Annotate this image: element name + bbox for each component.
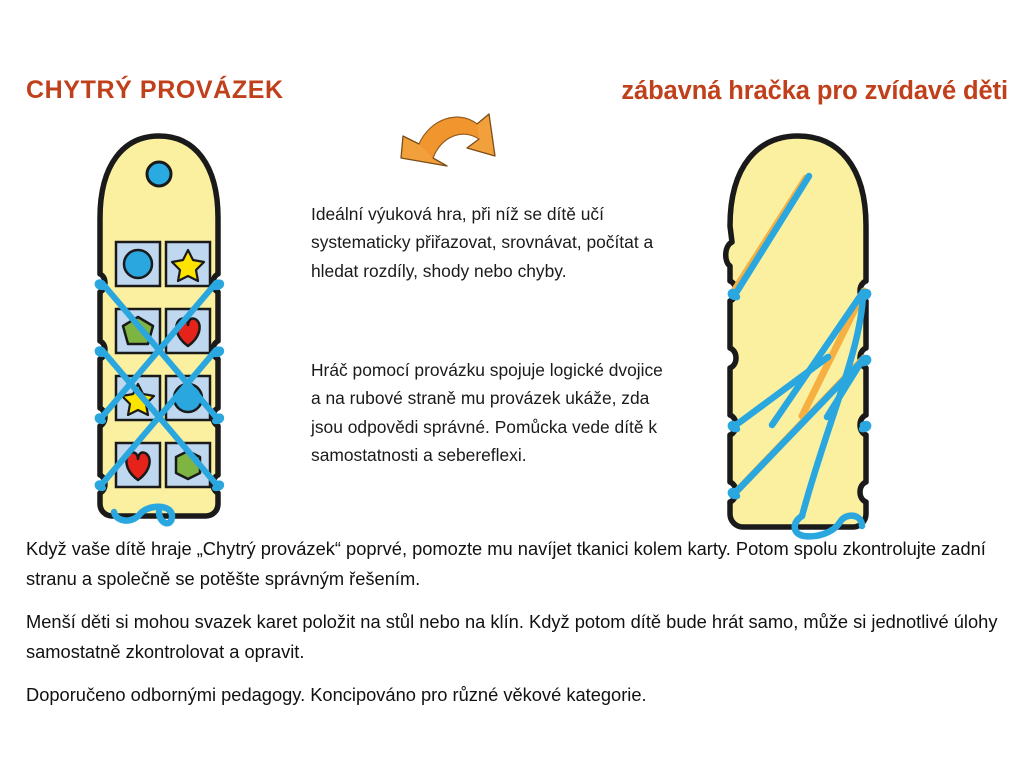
card-front xyxy=(86,126,246,526)
shape-circle xyxy=(124,250,152,278)
hole-icon xyxy=(147,162,171,186)
slide-canvas: CHYTRÝ PROVÁZEK zábavná hračka pro zvída… xyxy=(0,0,1024,768)
curved-arrow-icon xyxy=(397,96,515,174)
page-title: CHYTRÝ PROVÁZEK xyxy=(26,76,284,105)
instruction-paragraph-2: Menší děti si mohou svazek karet položit… xyxy=(26,607,998,667)
grid-cell-r1c1 xyxy=(116,242,160,286)
intro-paragraph-1: Ideální výuková hra, při níž se dítě učí… xyxy=(311,200,663,285)
instructions-block: Když vaše dítě hraje „Chytrý provázek“ p… xyxy=(26,534,998,710)
intro-paragraph-2: Hráč pomocí provázku spojuje logické dvo… xyxy=(311,356,663,470)
instruction-paragraph-3: Doporučeno odbornými pedagogy. Koncipová… xyxy=(26,680,998,710)
card-back xyxy=(706,126,896,541)
page-subtitle: zábavná hračka pro zvídavé děti xyxy=(621,77,1008,106)
instruction-paragraph-1: Když vaše dítě hraje „Chytrý provázek“ p… xyxy=(26,534,998,594)
grid-cell-r4c1 xyxy=(116,443,160,487)
grid-cell-r1c2 xyxy=(166,242,210,286)
